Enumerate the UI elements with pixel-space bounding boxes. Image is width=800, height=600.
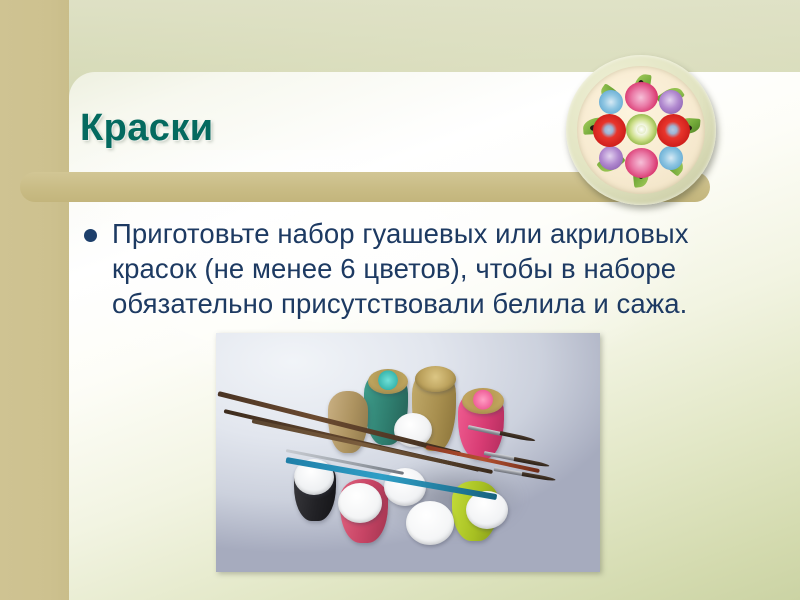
plate-flower-blue-se (659, 146, 683, 170)
plate-flower-pink-top (625, 82, 658, 112)
plate-flower-red-left (593, 114, 626, 147)
bullet-text: Приготовьте набор гуашевых или акриловых… (112, 216, 689, 321)
paint-jar-cap-white-3 (338, 483, 382, 523)
plate-center-dot (637, 125, 646, 134)
plate-flower-purple-sw (599, 146, 623, 170)
plate-flower-red-right (657, 114, 690, 147)
plate-flower-purple-ne (659, 90, 683, 114)
paint-tubes-and-brushes-photo (216, 333, 600, 572)
paint-cap-teal (368, 369, 408, 394)
left-accent-band (0, 0, 69, 600)
list-item: Приготовьте набор гуашевых или акриловых… (84, 216, 784, 321)
paint-cap-olive (415, 366, 456, 392)
slide-body: Приготовьте набор гуашевых или акриловых… (84, 216, 784, 321)
slide-canvas: Краски Приготовьте набор гуашевых или ак… (0, 0, 800, 600)
plate-face (577, 66, 705, 194)
paint-jar-cap-white-4 (384, 468, 426, 506)
plate-flower-pink-bottom (625, 148, 658, 178)
folk-art-painted-plate-icon (566, 55, 716, 205)
plate-flower-blue-nw (599, 90, 623, 114)
slide-title: Краски (80, 107, 213, 150)
bullet-line-1: Приготовьте набор гуашевых или акриловых (112, 216, 689, 251)
bullet-line-2: красок (не менее 6 цветов), чтобы в набо… (112, 251, 689, 286)
bullet-line-3: обязательно присутствовали белила и сажа… (112, 286, 689, 321)
paint-cap-pink (462, 388, 504, 414)
paint-jar-cap-white-6 (406, 501, 454, 545)
bullet-dot-icon (84, 229, 97, 242)
